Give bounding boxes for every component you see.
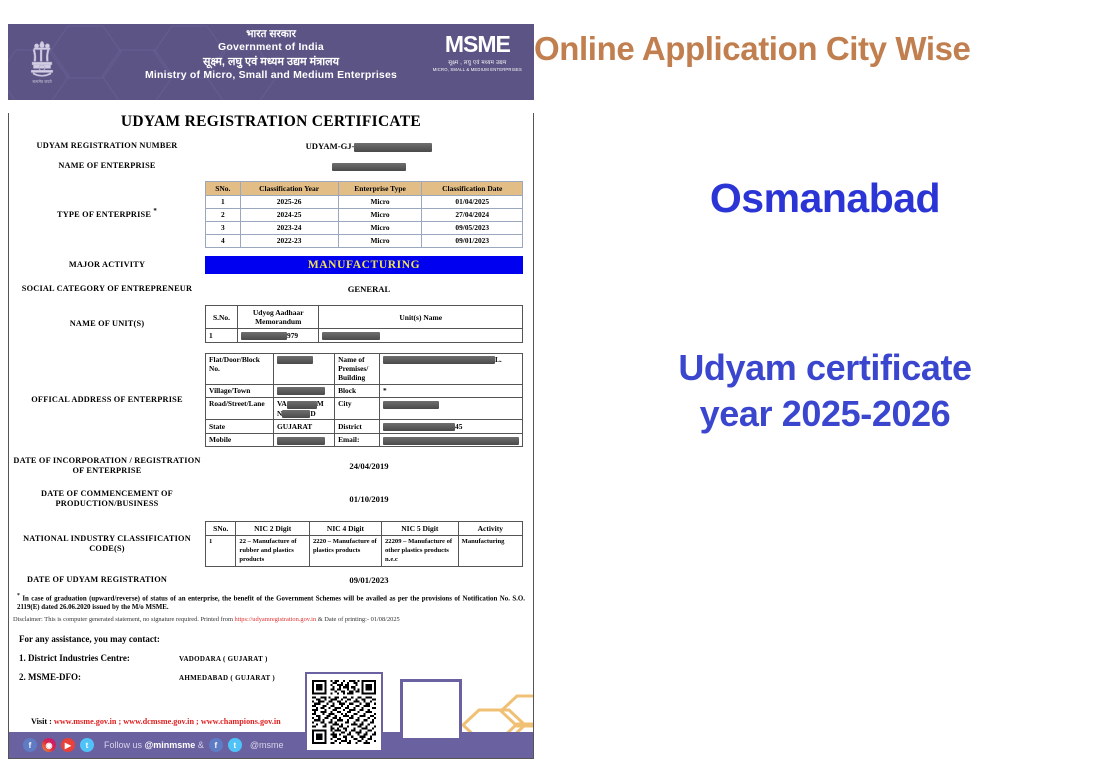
row-name-of-units: NAME OF UNIT(S) S.No.Udyog Aadhaar Memor… (9, 305, 533, 342)
address-key: Mobile (206, 433, 274, 446)
table-cell: 09/05/2023 (422, 221, 523, 234)
disclaimer-line: Disclaimer: This is computer generated s… (9, 616, 533, 624)
disclaimer-link[interactable]: https://udyamregistration.gov.in (235, 616, 317, 623)
address-value (380, 433, 523, 446)
table-cell: 01/04/2025 (422, 195, 523, 208)
redaction-bar (383, 437, 519, 445)
address-key: State (206, 420, 274, 433)
table-cell: Manufacturing (458, 536, 522, 567)
visit-links[interactable]: www.msme.gov.in ; www.dcmsme.gov.in ; ww… (54, 717, 281, 726)
page-headline: Online Application City Wise (534, 30, 1116, 68)
table-cell: 2022-23 (240, 234, 338, 247)
address-row: Road/Street/LaneVAMNDCity (206, 397, 523, 420)
disclaimer-prefix: Disclaimer: This is computer generated s… (13, 616, 235, 623)
label-date-incorporation: DATE OF INCORPORATION / REGISTRATION OF … (9, 456, 205, 477)
address-value: GUJARAT (274, 420, 335, 433)
redaction-bar-urn (354, 143, 432, 152)
value-date-incorporation: 24/04/2019 (205, 461, 533, 471)
certificate-body: UDYAM REGISTRATION CERTIFICATE UDYAM REG… (8, 113, 534, 759)
table-cell: Micro (338, 208, 422, 221)
col-header-1: Classification Year (240, 181, 338, 195)
label-udyam-registration-number: UDYAM REGISTRATION NUMBER (9, 141, 205, 151)
label-official-address: OFFICAL ADDRESS OF ENTERPRISE (9, 395, 205, 405)
table-cell: Micro (338, 234, 422, 247)
classification-table: SNo.Classification YearEnterprise TypeCl… (205, 181, 523, 248)
table-cell: 3 (206, 221, 241, 234)
facebook-icon-secondary[interactable]: f (209, 738, 223, 752)
address-key: Road/Street/Lane (206, 397, 274, 420)
table-cell: Micro (338, 221, 422, 234)
col-header-0: SNo. (206, 522, 236, 536)
units-table: S.No.Udyog Aadhaar MemorandumUnit(s) Nam… (205, 305, 523, 342)
label-type-of-enterprise-text: TYPE OF ENTERPRISE (57, 210, 151, 219)
address-value (274, 433, 335, 446)
twitter-icon-secondary[interactable]: t (228, 738, 242, 752)
follow-label: Follow us (104, 740, 145, 750)
youtube-icon[interactable]: ▶ (61, 738, 75, 752)
address-row: MobileEmail: (206, 433, 523, 446)
row-social-category: SOCIAL CATEGORY OF ENTREPRENEUR GENERAL (9, 284, 533, 294)
assistance-label-dic: 1. District Industries Centre: (19, 653, 179, 663)
label-nic-codes: NATIONAL INDUSTRY CLASSIFICATION CODE(S) (9, 534, 205, 555)
row-name-of-enterprise: NAME OF ENTERPRISE (9, 161, 533, 171)
handle-minmsme[interactable]: @minmsme (145, 740, 196, 750)
address-value (380, 397, 523, 420)
col-header-4: Activity (458, 522, 522, 536)
redaction-bar (383, 423, 455, 431)
blank-white-overlay-box (400, 679, 462, 741)
address-key: City (335, 397, 380, 420)
table-cell: 22209 – Manufacture of other plastics pr… (382, 536, 459, 567)
col-header-0: SNo. (206, 181, 241, 195)
address-key: Village/Town (206, 384, 274, 397)
row-udyam-registration-number: UDYAM REGISTRATION NUMBER UDYAM-GJ- (9, 141, 533, 152)
units-table-header-row: S.No.Udyog Aadhaar MemorandumUnit(s) Nam… (206, 306, 523, 329)
row-date-incorporation: DATE OF INCORPORATION / REGISTRATION OF … (9, 456, 533, 477)
assistance-heading: For any assistance, you may contact: (9, 634, 533, 644)
col-header-3: Classification Date (422, 181, 523, 195)
col-header-2: Enterprise Type (338, 181, 422, 195)
ampersand: & (195, 740, 204, 750)
table-row: 12025-26Micro01/04/2025 (206, 195, 523, 208)
address-value (274, 353, 335, 384)
value-date-commencement: 01/10/2019 (205, 494, 533, 504)
redaction-bar (383, 356, 495, 364)
asterisk-marker: * (153, 208, 157, 215)
address-key: Name of Premises/ Building (335, 353, 380, 384)
msme-logo-english: MICRO, SMALL & MEDIUM ENTERPRISES (433, 67, 522, 72)
redaction-bar-uam (241, 332, 287, 340)
certificate-year-line-2: year 2025-2026 (534, 391, 1116, 437)
label-social-category: SOCIAL CATEGORY OF ENTREPRENEUR (9, 284, 205, 294)
address-value: VAMND (274, 397, 335, 420)
qr-code-graphic (310, 677, 378, 747)
qr-code (305, 672, 383, 752)
table-row: 122 – Manufacture of rubber and plastics… (206, 536, 523, 567)
address-value: * (380, 384, 523, 397)
table-cell: 27/04/2024 (422, 208, 523, 221)
address-table: Flat/Door/Block No.Name of Premises/ Bui… (205, 353, 523, 447)
address-key: District (335, 420, 380, 433)
row-nic-codes: NATIONAL INDUSTRY CLASSIFICATION CODE(S)… (9, 521, 533, 567)
classification-table-header-row: SNo.Classification YearEnterprise TypeCl… (206, 181, 523, 195)
table-row: 22024-25Micro27/04/2024 (206, 208, 523, 221)
address-key: Email: (335, 433, 380, 446)
redaction-bar (287, 401, 317, 409)
table-cell: 2023-24 (240, 221, 338, 234)
graduation-footnote: * In case of graduation (upward/reverse)… (9, 593, 533, 613)
label-name-of-units: NAME OF UNIT(S) (9, 319, 205, 329)
follow-us-text: Follow us @minmsme & (104, 740, 204, 750)
urn-prefix: UDYAM-GJ- (306, 141, 355, 151)
col-header-3: NIC 5 Digit (382, 522, 459, 536)
major-activity-banner: MANUFACTURING (205, 256, 523, 274)
msme-logo: MSME सूक्ष्म , लघु एवं मध्यम उद्यम MICRO… (433, 34, 522, 72)
address-value: L. (380, 353, 523, 384)
nic-table-header-row: SNo.NIC 2 DigitNIC 4 DigitNIC 5 DigitAct… (206, 522, 523, 536)
row-date-udyam-registration: DATE OF UDYAM REGISTRATION 09/01/2023 (9, 575, 533, 585)
row-official-address: OFFICAL ADDRESS OF ENTERPRISE Flat/Door/… (9, 353, 533, 447)
col-header-2: NIC 4 Digit (309, 522, 381, 536)
col-header-2: Unit(s) Name (319, 306, 523, 329)
instagram-icon[interactable]: ◉ (42, 738, 56, 752)
twitter-icon[interactable]: t (80, 738, 94, 752)
redaction-bar (277, 356, 313, 364)
facebook-icon[interactable]: f (23, 738, 37, 752)
disclaimer-suffix: & Date of printing:- 01/08/2025 (316, 616, 400, 623)
table-cell: 22 – Manufacture of rubber and plastics … (236, 536, 310, 567)
address-row: StateGUJARATDistrict45 (206, 420, 523, 433)
label-name-of-enterprise: NAME OF ENTERPRISE (9, 161, 205, 171)
assistance-value-dfo: AHMEDABAD ( GUJARAT ) (179, 674, 275, 682)
redaction-bar (282, 410, 310, 418)
table-cell: 1 (206, 536, 236, 567)
value-name-of-enterprise (205, 161, 533, 171)
table-cell (319, 329, 523, 342)
col-header-1: Udyog Aadhaar Memorandum (238, 306, 319, 329)
nic-table: SNo.NIC 2 DigitNIC 4 DigitNIC 5 DigitAct… (205, 521, 523, 567)
assistance-item-dic: 1. District Industries Centre: VADODARA … (9, 653, 533, 663)
msme-logo-hindi: सूक्ष्म , लघु एवं मध्यम उद्यम (433, 58, 522, 66)
table-cell: 1 (206, 195, 241, 208)
address-row: Village/TownBlock* (206, 384, 523, 397)
table-row: 1979 (206, 329, 523, 342)
table-cell: 2 (206, 208, 241, 221)
address-key: Flat/Door/Block No. (206, 353, 274, 384)
footnote-asterisk: * (17, 593, 20, 599)
label-major-activity: MAJOR ACTIVITY (9, 260, 205, 270)
certificate-year-line-1: Udyam certificate (534, 345, 1116, 391)
address-row: Flat/Door/Block No.Name of Premises/ Bui… (206, 353, 523, 384)
udyam-certificate-document: सत्यमेव जयते भारत सरकार Government of In… (8, 24, 534, 746)
table-row: 42022-23Micro09/01/2023 (206, 234, 523, 247)
redaction-bar (277, 437, 325, 445)
value-date-udyam-registration: 09/01/2023 (205, 575, 533, 585)
msme-logo-mark: MSME (433, 34, 522, 56)
col-header-1: NIC 2 Digit (236, 522, 310, 536)
city-name-heading: Osmanabad (534, 175, 1116, 222)
label-date-commencement: DATE OF COMMENCEMENT OF PRODUCTION/BUSIN… (9, 489, 205, 510)
redaction-bar-enterprise-name (332, 163, 406, 171)
certificate-title: UDYAM REGISTRATION CERTIFICATE (9, 113, 533, 131)
right-info-panel: Online Application City Wise Osmanabad U… (534, 0, 1116, 753)
assistance-label-dfo: 2. MSME-DFO: (19, 672, 179, 682)
table-cell: 2024-25 (240, 208, 338, 221)
table-cell: 4 (206, 234, 241, 247)
address-value (274, 384, 335, 397)
table-cell: 1 (206, 329, 238, 342)
handle-msme[interactable]: @msme (250, 740, 284, 750)
address-key: Block (335, 384, 380, 397)
address-value: 45 (380, 420, 523, 433)
footnote-text: In case of graduation (upward/reverse) o… (17, 595, 525, 611)
value-social-category: GENERAL (205, 284, 533, 294)
table-cell: Micro (338, 195, 422, 208)
redaction-bar-unit-name (322, 332, 380, 340)
table-cell: 2025-26 (240, 195, 338, 208)
table-cell: 2220 – Manufacture of plastics products (309, 536, 381, 567)
certificate-masthead: सत्यमेव जयते भारत सरकार Government of In… (8, 24, 534, 100)
redaction-bar (277, 387, 325, 395)
col-header-0: S.No. (206, 306, 238, 329)
table-cell: 979 (238, 329, 319, 342)
row-date-commencement: DATE OF COMMENCEMENT OF PRODUCTION/BUSIN… (9, 489, 533, 510)
certificate-year-heading: Udyam certificate year 2025-2026 (534, 345, 1116, 437)
table-row: 32023-24Micro09/05/2023 (206, 221, 523, 234)
label-date-udyam-registration: DATE OF UDYAM REGISTRATION (9, 575, 205, 585)
row-major-activity: MAJOR ACTIVITY MANUFACTURING (9, 256, 533, 274)
table-cell: 09/01/2023 (422, 234, 523, 247)
row-type-of-enterprise: TYPE OF ENTERPRISE * SNo.Classification … (9, 181, 533, 248)
assistance-value-dic: VADODARA ( GUJARAT ) (179, 655, 268, 663)
visit-line: Visit : www.msme.gov.in ; www.dcmsme.gov… (9, 717, 281, 726)
classification-table-wrapper: SNo.Classification YearEnterprise TypeCl… (205, 181, 533, 248)
visit-prefix: Visit : (31, 717, 54, 726)
redaction-bar (383, 401, 439, 409)
label-type-of-enterprise: TYPE OF ENTERPRISE * (9, 208, 205, 220)
value-udyam-registration-number: UDYAM-GJ- (205, 141, 533, 152)
